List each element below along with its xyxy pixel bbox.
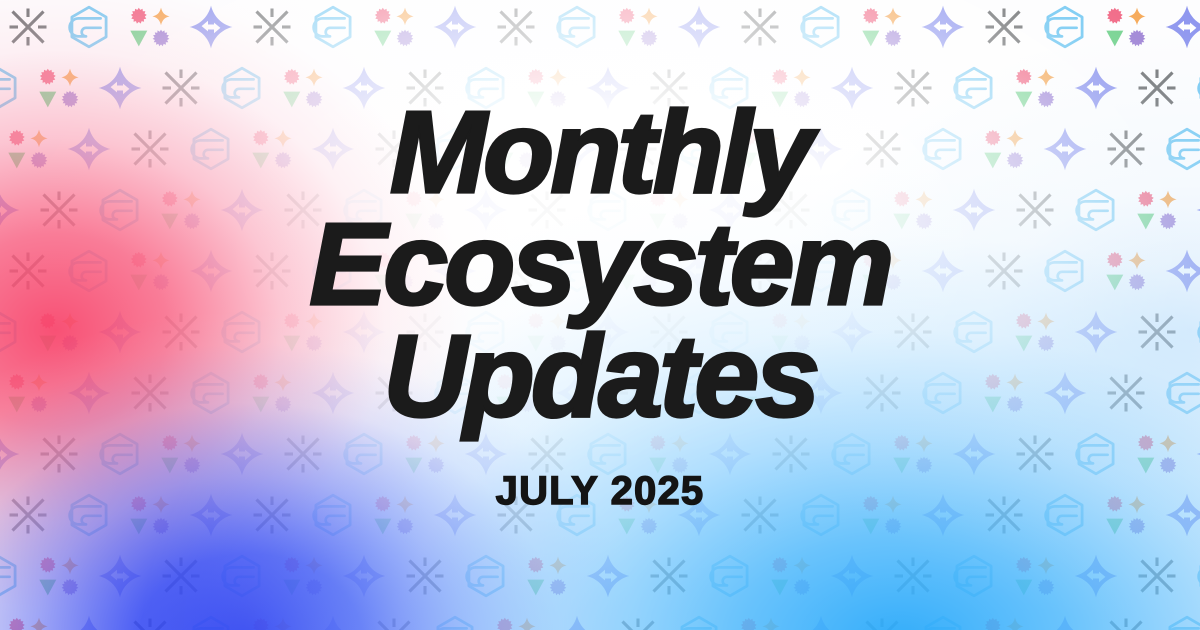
hexagon-spiral-icon bbox=[0, 553, 21, 599]
title-line-1: Monthly bbox=[0, 96, 1200, 208]
hexagon-spiral-icon bbox=[951, 553, 997, 599]
hexagon-spiral-icon bbox=[707, 553, 753, 599]
asterisk-icon bbox=[890, 553, 936, 599]
shapes-cluster-icon bbox=[371, 4, 417, 50]
asterisk-icon bbox=[158, 553, 204, 599]
swap-diamond-icon bbox=[920, 4, 966, 50]
asterisk-icon bbox=[402, 553, 448, 599]
swap-diamond-icon bbox=[66, 614, 112, 630]
asterisk-icon bbox=[615, 614, 661, 630]
swap-diamond-icon bbox=[188, 4, 234, 50]
shapes-cluster-icon bbox=[981, 614, 1027, 630]
swap-diamond-icon bbox=[554, 614, 600, 630]
swap-diamond-icon bbox=[1073, 553, 1119, 599]
swap-diamond-icon bbox=[829, 553, 875, 599]
title-line-2: Ecosystem bbox=[0, 208, 1200, 320]
hexagon-spiral-icon bbox=[463, 553, 509, 599]
asterisk-icon bbox=[859, 614, 905, 630]
hexagon-spiral-icon bbox=[798, 4, 844, 50]
hexagon-spiral-icon bbox=[188, 614, 234, 630]
swap-diamond-icon bbox=[432, 4, 478, 50]
swap-diamond-icon bbox=[1042, 614, 1088, 630]
hexagon-spiral-icon bbox=[1164, 614, 1200, 630]
title-line-3: Updates bbox=[0, 320, 1200, 432]
asterisk-icon bbox=[5, 4, 51, 50]
asterisk-icon bbox=[371, 614, 417, 630]
hexagon-spiral-icon bbox=[676, 614, 722, 630]
swap-diamond-icon bbox=[1164, 4, 1200, 50]
swap-diamond-icon bbox=[341, 553, 387, 599]
headline-block: Monthly Ecosystem Updates JULY 2025 bbox=[0, 96, 1200, 514]
shapes-cluster-icon bbox=[493, 614, 539, 630]
hexagon-spiral-icon bbox=[920, 614, 966, 630]
swap-diamond-icon bbox=[676, 4, 722, 50]
shapes-cluster-icon bbox=[737, 614, 783, 630]
asterisk-icon bbox=[127, 614, 173, 630]
hexagon-spiral-icon bbox=[1195, 553, 1200, 599]
shapes-cluster-icon bbox=[615, 4, 661, 50]
shapes-cluster-icon bbox=[524, 553, 570, 599]
asterisk-icon bbox=[249, 4, 295, 50]
shapes-cluster-icon bbox=[1012, 553, 1058, 599]
hexagon-spiral-icon bbox=[1042, 4, 1088, 50]
swap-diamond-icon bbox=[585, 553, 631, 599]
hexagon-spiral-icon bbox=[66, 4, 112, 50]
shapes-cluster-icon bbox=[280, 553, 326, 599]
shapes-cluster-icon bbox=[859, 4, 905, 50]
shapes-cluster-icon bbox=[36, 553, 82, 599]
shapes-cluster-icon bbox=[249, 614, 295, 630]
shapes-cluster-icon bbox=[5, 614, 51, 630]
swap-diamond-icon bbox=[97, 553, 143, 599]
asterisk-icon bbox=[1134, 553, 1180, 599]
asterisk-icon bbox=[981, 4, 1027, 50]
shapes-cluster-icon bbox=[1103, 4, 1149, 50]
asterisk-icon bbox=[1103, 614, 1149, 630]
asterisk-icon bbox=[646, 553, 692, 599]
monthly-ecosystem-updates-banner: Monthly Ecosystem Updates JULY 2025 bbox=[0, 0, 1200, 630]
hexagon-spiral-icon bbox=[310, 4, 356, 50]
shapes-cluster-icon bbox=[768, 553, 814, 599]
shapes-cluster-icon bbox=[127, 4, 173, 50]
swap-diamond-icon bbox=[798, 614, 844, 630]
subtitle-date: JULY 2025 bbox=[0, 468, 1200, 514]
swap-diamond-icon bbox=[310, 614, 356, 630]
asterisk-icon bbox=[493, 4, 539, 50]
hexagon-spiral-icon bbox=[432, 614, 478, 630]
hexagon-spiral-icon bbox=[554, 4, 600, 50]
asterisk-icon bbox=[737, 4, 783, 50]
hexagon-spiral-icon bbox=[219, 553, 265, 599]
